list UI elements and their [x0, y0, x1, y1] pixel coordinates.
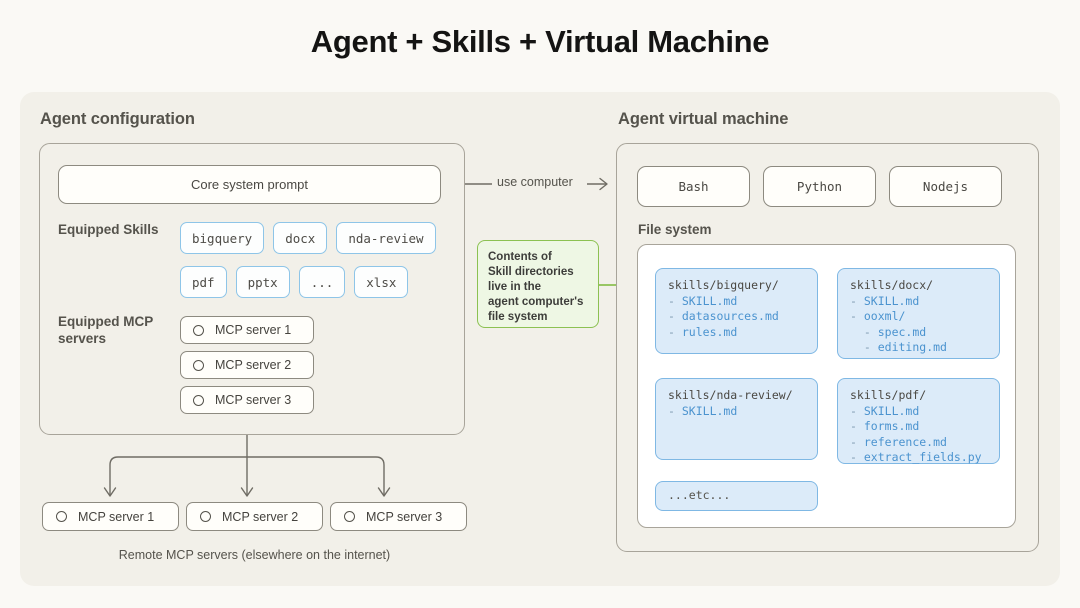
- mcp-server-item[interactable]: MCP server 1: [180, 316, 314, 344]
- mcp-server-label: MCP server 2: [215, 358, 291, 372]
- circle-icon: [193, 395, 204, 406]
- skill-directory-card[interactable]: skills/bigquery/ - SKILL.md - datasource…: [655, 268, 818, 354]
- mcp-server-item[interactable]: MCP server 2: [180, 351, 314, 379]
- skill-chip-more[interactable]: ...: [299, 266, 346, 298]
- equipped-skills-row-1: bigquery docx nda-review: [180, 222, 436, 254]
- circle-icon: [193, 360, 204, 371]
- circle-icon: [200, 511, 211, 522]
- circle-icon: [193, 325, 204, 336]
- agent-configuration-heading: Agent configuration: [40, 110, 195, 129]
- skill-chip[interactable]: pdf: [180, 266, 227, 298]
- file-system-label: File system: [638, 222, 712, 237]
- runtime-chip-nodejs[interactable]: Nodejs: [889, 166, 1002, 207]
- equipped-skills-label: Equipped Skills: [58, 221, 168, 238]
- mcp-server-label: MCP server 1: [215, 323, 291, 337]
- skill-chip[interactable]: pptx: [236, 266, 290, 298]
- skill-directory-card[interactable]: skills/docx/ - SKILL.md - ooxml/ - spec.…: [837, 268, 1000, 359]
- equipped-mcp-servers-label: Equipped MCP servers: [58, 313, 158, 347]
- remote-mcp-server-item[interactable]: MCP server 3: [330, 502, 467, 531]
- agent-virtual-machine-heading: Agent virtual machine: [618, 110, 788, 129]
- skill-chip[interactable]: bigquery: [180, 222, 264, 254]
- skill-chip[interactable]: nda-review: [336, 222, 435, 254]
- runtime-chip-python[interactable]: Python: [763, 166, 876, 207]
- remote-mcp-server-item[interactable]: MCP server 2: [186, 502, 323, 531]
- skill-directory-card[interactable]: skills/pdf/ - SKILL.md - forms.md - refe…: [837, 378, 1000, 464]
- page-title: Agent + Skills + Virtual Machine: [0, 24, 1080, 60]
- skill-chip[interactable]: docx: [273, 222, 327, 254]
- use-computer-label: use computer: [497, 175, 573, 189]
- skill-directories-callout: Contents of Skill directories live in th…: [477, 240, 599, 328]
- remote-mcp-server-label: MCP server 2: [222, 510, 298, 524]
- remote-mcp-server-label: MCP server 1: [78, 510, 154, 524]
- mcp-server-label: MCP server 3: [215, 393, 291, 407]
- skill-directory-card[interactable]: skills/nda-review/ - SKILL.md: [655, 378, 818, 460]
- core-system-prompt-box: Core system prompt: [58, 165, 441, 204]
- equipped-skills-row-2: pdf pptx ... xlsx: [180, 266, 408, 298]
- remote-mcp-server-label: MCP server 3: [366, 510, 442, 524]
- mcp-server-item[interactable]: MCP server 3: [180, 386, 314, 414]
- skill-chip[interactable]: xlsx: [354, 266, 408, 298]
- circle-icon: [344, 511, 355, 522]
- circle-icon: [56, 511, 67, 522]
- skill-directory-card-etc[interactable]: ...etc...: [655, 481, 818, 511]
- runtime-chip-row: Bash Python Nodejs: [637, 166, 1002, 207]
- runtime-chip-bash[interactable]: Bash: [637, 166, 750, 207]
- remote-mcp-servers-caption: Remote MCP servers (elsewhere on the int…: [42, 548, 467, 562]
- remote-mcp-server-item[interactable]: MCP server 1: [42, 502, 179, 531]
